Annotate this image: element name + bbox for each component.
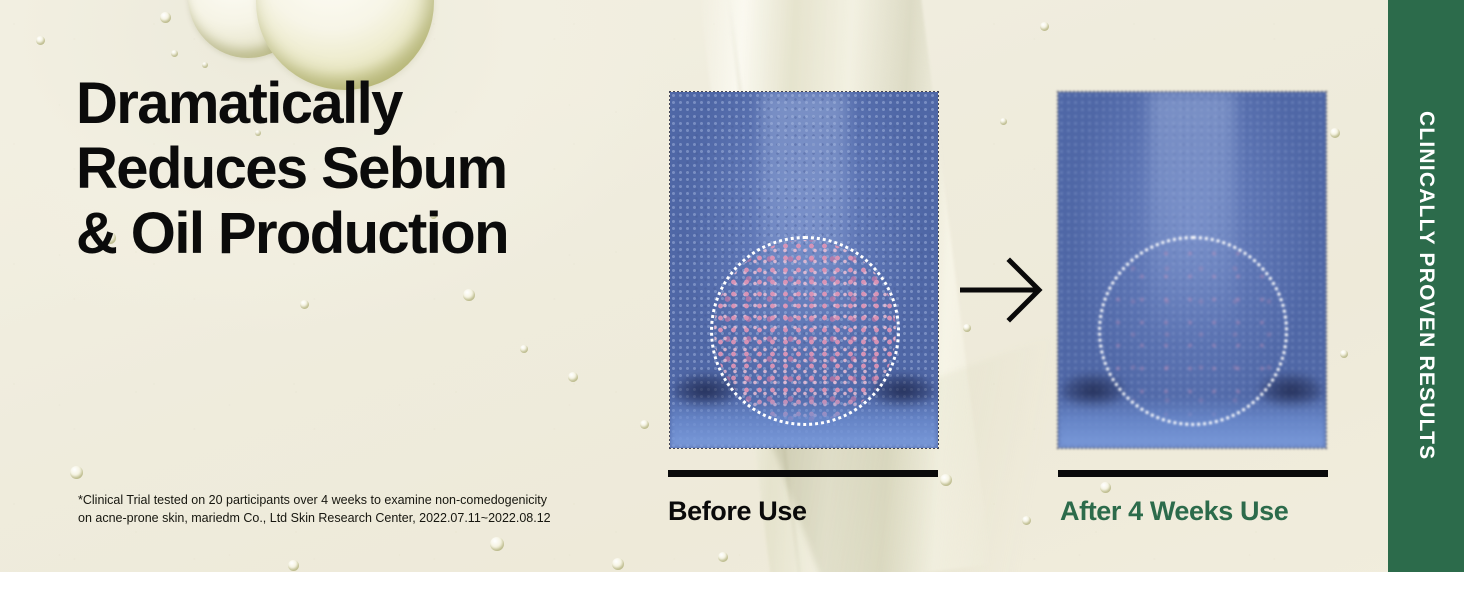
before-skin-photo [670, 92, 938, 448]
clinical-trial-disclaimer: *Clinical Trial tested on 20 participant… [78, 491, 618, 527]
oil-bubble [202, 62, 208, 68]
after-caption-rule [1058, 470, 1328, 477]
oil-bubble [1040, 22, 1049, 31]
arrow-right-icon [960, 255, 1046, 325]
oil-bubble [1022, 516, 1031, 525]
oil-bubble [70, 466, 83, 479]
oil-bubble [1330, 128, 1340, 138]
after-caption: After 4 Weeks Use [1060, 496, 1288, 527]
oil-bubble [490, 537, 504, 551]
oil-bubble [36, 36, 45, 45]
page-title: Dramatically Reduces Sebum & Oil Product… [76, 72, 508, 267]
sidebar-label: CLINICALLY PROVEN RESULTS [1414, 111, 1438, 460]
oil-bubble [171, 50, 178, 57]
oil-bubble [612, 558, 624, 570]
oil-bubble [718, 552, 728, 562]
measurement-marker-circle [710, 236, 900, 426]
oil-bubble [288, 560, 299, 571]
oil-bubble [963, 324, 971, 332]
after-panel [1058, 92, 1326, 448]
before-panel [670, 92, 938, 448]
oil-bubble [1000, 118, 1007, 125]
oil-bubble [1340, 350, 1348, 358]
oil-bubble [160, 12, 171, 23]
after-skin-photo [1058, 92, 1326, 448]
before-caption-rule [668, 470, 938, 477]
oil-bubble [300, 300, 309, 309]
oil-bubble [640, 420, 649, 429]
promo-banner: Dramatically Reduces Sebum & Oil Product… [0, 0, 1464, 572]
oil-bubble [1100, 482, 1111, 493]
oil-bubble [520, 345, 528, 353]
before-caption: Before Use [668, 496, 807, 527]
oil-bubble [463, 289, 475, 301]
measurement-marker-circle [1098, 236, 1288, 426]
oil-bubble [568, 372, 578, 382]
clinically-proven-sidebar: CLINICALLY PROVEN RESULTS [1388, 0, 1464, 572]
oil-bubble [940, 474, 952, 486]
